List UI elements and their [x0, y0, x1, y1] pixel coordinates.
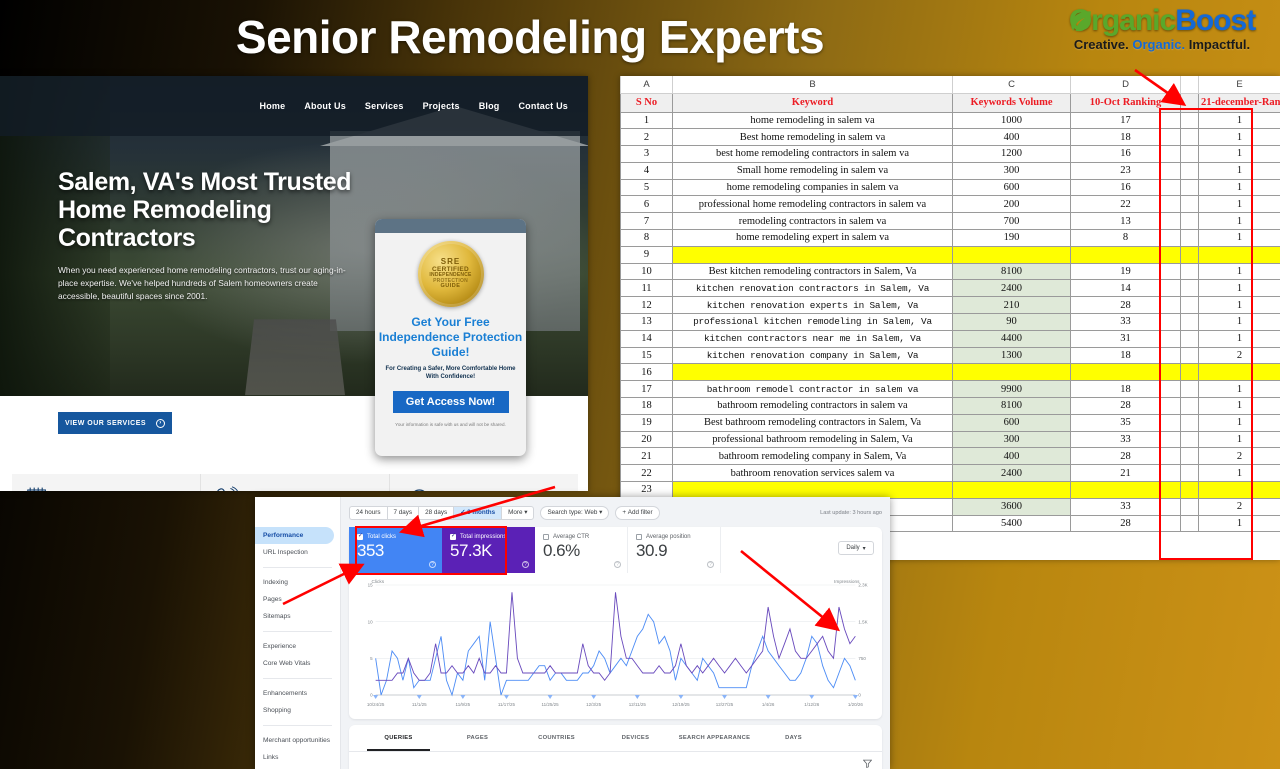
table-row[interactable]: 6professional home remodeling contractor… [621, 196, 1280, 213]
lead-card-disclaimer: Your information is safe with us and wil… [375, 421, 526, 428]
cell-volume[interactable]: 600 [953, 414, 1071, 431]
performance-chart: 005750101.5K152.3KClicksImpressions10/24… [349, 575, 882, 715]
website-navbar: Home About Us Services Projects Blog Con… [0, 76, 588, 136]
cell-volume[interactable]: 2400 [953, 280, 1071, 297]
cell-oct-ranking[interactable]: 35 [1071, 414, 1181, 431]
checkbox-icon[interactable] [636, 534, 642, 540]
filter-icon[interactable] [863, 759, 872, 768]
cell-keyword[interactable]: kitchen renovation experts in Salem, Va [673, 297, 953, 314]
lead-card-heading: Get Your Free Independence Protection Gu… [375, 315, 526, 360]
website-hero: Home About Us Services Projects Blog Con… [0, 76, 588, 396]
cell-s-no[interactable]: 14 [621, 330, 673, 347]
search-console-panel[interactable]: PerformanceURL InspectionIndexingPagesSi… [255, 497, 890, 769]
cell-keyword[interactable]: home remodeling companies in salem va [673, 179, 953, 196]
svg-text:12/27/25: 12/27/25 [716, 702, 734, 707]
cell-december-rank[interactable]: 1 [1199, 381, 1280, 398]
cell-s-no[interactable]: 13 [621, 314, 673, 331]
cell-december-rank[interactable]: 1 [1199, 330, 1280, 347]
metric-total-impressions[interactable]: Total impressions 57.3K ? [442, 527, 535, 573]
cell-keyword[interactable]: bathroom renovation services salem va [673, 465, 953, 482]
cell-december-rank[interactable]: 1 [1199, 414, 1280, 431]
nav-link-contact-us[interactable]: Contact Us [518, 101, 568, 111]
tab-days[interactable]: DAYS [754, 725, 833, 751]
cell-c[interactable] [953, 364, 1071, 381]
view-our-services-button[interactable]: VIEW OUR SERVICES › [58, 412, 172, 434]
cell-volume[interactable]: 9900 [953, 381, 1071, 398]
metric-total-clicks[interactable]: Total clicks 353 ? [349, 527, 442, 573]
tagline-impactful: Impactful. [1189, 37, 1250, 52]
cell-s-no[interactable]: 10 [621, 263, 673, 280]
metric-value: 57.3K [450, 541, 527, 561]
gsc-sidebar-item-performance[interactable]: Performance [255, 527, 334, 544]
cell-keyword[interactable]: best home remodeling contractors in sale… [673, 146, 953, 163]
cell-keyword[interactable]: home remodeling expert in salem va [673, 230, 953, 247]
table-row[interactable]: 18bathroom remodeling contractors in sal… [621, 398, 1280, 415]
cell-sp[interactable] [1181, 246, 1199, 263]
calendar-clock-icon [26, 486, 52, 491]
granularity-label: Daily [846, 545, 859, 551]
chart-series-group [376, 592, 856, 695]
table-row[interactable]: 16 [621, 364, 1280, 381]
cell-a[interactable]: 9 [621, 246, 673, 263]
chip-3-months-label: 3 months [467, 509, 495, 516]
cell-d[interactable] [1071, 246, 1181, 263]
cell-oct-ranking[interactable]: 16 [1071, 179, 1181, 196]
table-row[interactable]: 9 [621, 246, 1280, 263]
cell-spacer[interactable] [1181, 280, 1199, 297]
cell-spacer[interactable] [1181, 515, 1199, 532]
lead-capture-card: SRE CERTIFIED INDEPENDENCE PROTECTION GU… [375, 219, 526, 456]
cell-spacer[interactable] [1181, 146, 1199, 163]
cell-volume[interactable]: 300 [953, 162, 1071, 179]
cell-oct-ranking[interactable]: 33 [1071, 431, 1181, 448]
svg-text:750: 750 [858, 656, 866, 661]
cell-spacer[interactable] [1181, 297, 1199, 314]
checkbox-icon[interactable] [543, 534, 549, 540]
view-our-services-label: VIEW OUR SERVICES [65, 420, 146, 427]
col-letter-e[interactable]: E [1199, 76, 1280, 93]
lead-card-topbar [375, 219, 526, 233]
gsc-sidebar-item-pages[interactable]: Pages [255, 591, 340, 608]
gsc-filter-bar: 24 hours 7 days 28 days ✓ 3 months More … [349, 505, 882, 520]
col-letter-a[interactable]: A [621, 76, 673, 93]
table-row[interactable]: 5home remodeling companies in salem va60… [621, 179, 1280, 196]
gsc-main-area: 24 hours 7 days 28 days ✓ 3 months More … [341, 497, 890, 769]
cell-s-no[interactable]: 20 [621, 431, 673, 448]
cell-volume[interactable]: 1300 [953, 347, 1071, 364]
svg-text:10/24/25: 10/24/25 [367, 702, 385, 707]
cell-december-rank[interactable]: 1 [1199, 263, 1280, 280]
cell-volume[interactable]: 4400 [953, 330, 1071, 347]
cell-d[interactable] [1071, 364, 1181, 381]
cell-december-rank[interactable]: 1 [1199, 431, 1280, 448]
table-row[interactable]: 2Best home remodeling in salem va400181 [621, 129, 1280, 146]
cell-december-rank[interactable]: 2 [1199, 448, 1280, 465]
cell-spacer[interactable] [1181, 196, 1199, 213]
cell-oct-ranking[interactable]: 22 [1071, 196, 1181, 213]
tab-devices[interactable]: DEVICES [596, 725, 675, 751]
header-spacer [1181, 93, 1199, 112]
cell-c[interactable] [953, 246, 1071, 263]
granularity-select[interactable]: Daily ▾ [838, 541, 874, 555]
cell-spacer[interactable] [1181, 263, 1199, 280]
cell-s-no[interactable]: 12 [621, 297, 673, 314]
metric-value: 353 [357, 541, 434, 561]
cell-december-rank[interactable]: 2 [1199, 347, 1280, 364]
cell-keyword[interactable]: bathroom remodeling company in Salem, Va [673, 448, 953, 465]
cell-volume[interactable]: 90 [953, 314, 1071, 331]
hero-heading: Salem, VA's Most Trusted Home Remodeling… [58, 168, 358, 252]
cell-s-no[interactable]: 6 [621, 196, 673, 213]
cell-oct-ranking[interactable]: 23 [1071, 162, 1181, 179]
cell-s-no[interactable]: 5 [621, 179, 673, 196]
cell-s-no[interactable]: 18 [621, 398, 673, 415]
cell-spacer[interactable] [1181, 213, 1199, 230]
tagline-creative: Creative. [1074, 37, 1129, 52]
svg-text:0: 0 [370, 693, 373, 698]
gsc-sidebar-item-enhancements[interactable]: Enhancements [255, 685, 340, 702]
cell-keyword[interactable]: bathroom remodeling contractors in salem… [673, 398, 953, 415]
tab-countries[interactable]: COUNTRIES [517, 725, 596, 751]
cell-oct-ranking[interactable]: 18 [1071, 129, 1181, 146]
sidebar-divider [263, 631, 332, 632]
tab-pages[interactable]: PAGES [438, 725, 517, 751]
cell-spacer[interactable] [1181, 498, 1199, 515]
gsc-sidebar-item-core-web-vitals[interactable]: Core Web Vitals [255, 655, 340, 672]
table-row[interactable]: 17bathroom remodel contractor in salem v… [621, 381, 1280, 398]
search-type-chip[interactable]: Search type: Web ▾ [540, 506, 609, 520]
checkbox-icon[interactable] [450, 534, 456, 540]
cell-keyword[interactable]: Best home remodeling in salem va [673, 129, 953, 146]
keyword-ranking-spreadsheet[interactable]: A B C D E S No Keyword Keywords Volume 1… [620, 76, 1280, 560]
cell-b[interactable] [673, 482, 953, 499]
table-row[interactable]: 12kitchen renovation experts in Salem, V… [621, 297, 1280, 314]
cell-volume[interactable]: 400 [953, 129, 1071, 146]
cell-volume[interactable]: 1000 [953, 112, 1071, 129]
cell-s-no[interactable]: 11 [621, 280, 673, 297]
help-icon[interactable]: ? [614, 561, 621, 568]
checkbox-icon[interactable] [357, 534, 363, 540]
sidebar-divider [263, 567, 332, 568]
svg-text:1/20/26: 1/20/26 [848, 702, 864, 707]
cell-december-rank[interactable]: 1 [1199, 129, 1280, 146]
nav-link-services[interactable]: Services [365, 101, 404, 111]
brand-logo-boost: Boost [1175, 4, 1255, 37]
cell-d[interactable] [1071, 482, 1181, 499]
cell-oct-ranking[interactable]: 16 [1071, 146, 1181, 163]
gsc-sidebar-item-experience[interactable]: Experience [255, 638, 340, 655]
cell-volume[interactable]: 210 [953, 297, 1071, 314]
nav-link-projects[interactable]: Projects [423, 101, 460, 111]
tab-search-appearance[interactable]: SEARCH APPEARANCE [675, 725, 754, 751]
cell-volume[interactable]: 600 [953, 179, 1071, 196]
cell-volume[interactable]: 8100 [953, 263, 1071, 280]
table-row[interactable]: 15kitchen renovation company in Salem, V… [621, 347, 1280, 364]
cell-keyword[interactable]: bathroom remodel contractor in salem va [673, 381, 953, 398]
help-icon[interactable]: ? [707, 561, 714, 568]
table-header-row: S No Keyword Keywords Volume 10-Oct Rank… [621, 93, 1280, 112]
cell-e[interactable] [1199, 482, 1280, 499]
metric-value: 0.6% [543, 541, 619, 561]
tab-queries[interactable]: QUERIES [359, 725, 438, 751]
cell-spacer[interactable] [1181, 179, 1199, 196]
cell-s-no[interactable]: 19 [621, 414, 673, 431]
cell-december-rank[interactable]: 1 [1199, 162, 1280, 179]
seal-line-5: GUIDE [441, 284, 461, 290]
table-row[interactable]: 3best home remodeling contractors in sal… [621, 146, 1280, 163]
svg-text:Impressions: Impressions [834, 579, 860, 584]
cell-december-rank[interactable]: 1 [1199, 230, 1280, 247]
cell-spacer[interactable] [1181, 414, 1199, 431]
cell-keyword[interactable]: professional bathroom remodeling in Sale… [673, 431, 953, 448]
metric-label: Total impressions [460, 534, 506, 540]
cell-spacer[interactable] [1181, 330, 1199, 347]
certification-seal-icon: SRE CERTIFIED INDEPENDENCE PROTECTION GU… [418, 241, 484, 307]
gsc-sidebar-item-shopping[interactable]: Shopping [255, 702, 340, 719]
gsc-metrics-card: Total clicks 353 ? Total impressions 57.… [349, 527, 882, 719]
cell-oct-ranking[interactable]: 8 [1071, 230, 1181, 247]
cell-oct-ranking[interactable]: 18 [1071, 381, 1181, 398]
table-row[interactable]: 4Small home remodeling in salem va300231 [621, 162, 1280, 179]
cell-december-rank[interactable]: 1 [1199, 314, 1280, 331]
cell-oct-ranking[interactable]: 33 [1071, 314, 1181, 331]
cell-keyword[interactable]: home remodeling in salem va [673, 112, 953, 129]
cell-oct-ranking[interactable]: 33 [1071, 498, 1181, 515]
metric-label: Total clicks [367, 534, 396, 540]
cell-sp[interactable] [1181, 482, 1199, 499]
cell-volume[interactable]: 400 [953, 448, 1071, 465]
cell-volume[interactable]: 3600 [953, 498, 1071, 515]
cell-december-rank[interactable]: 1 [1199, 179, 1280, 196]
cell-volume[interactable]: 1200 [953, 146, 1071, 163]
info-card-call-us[interactable]: Call Us Today 540-384-2064 [201, 474, 390, 491]
cell-oct-ranking[interactable]: 17 [1071, 112, 1181, 129]
cell-b[interactable] [673, 364, 953, 381]
arrow-right-icon: › [156, 419, 165, 428]
cell-december-rank[interactable]: 1 [1199, 515, 1280, 532]
cell-s-no[interactable]: 2 [621, 129, 673, 146]
table-row[interactable]: 13professional kitchen remodeling in Sal… [621, 314, 1280, 331]
table-row[interactable]: 23 [621, 482, 1280, 499]
seal-line-4: PROTECTION [433, 279, 468, 284]
gsc-tabs-row: QUERIES PAGES COUNTRIES DEVICES SEARCH A… [349, 725, 882, 751]
last-update-text: Last update: 3 hours ago [820, 510, 882, 516]
col-letter-d[interactable]: D [1071, 76, 1181, 93]
svg-text:11/9/25: 11/9/25 [456, 702, 471, 707]
cell-keyword[interactable]: remodeling contractors in salem va [673, 213, 953, 230]
cell-a[interactable]: 23 [621, 482, 673, 499]
date-range-chipgroup: 24 hours 7 days 28 days ✓ 3 months More … [349, 506, 534, 520]
cell-s-no[interactable]: 8 [621, 230, 673, 247]
add-filter-chip[interactable]: + Add filter [615, 506, 659, 520]
gsc-sidebar-item-links[interactable]: Links [255, 749, 340, 766]
cell-december-rank[interactable]: 2 [1199, 498, 1280, 515]
chip-more-label: More [508, 509, 522, 516]
svg-text:1/12/26: 1/12/26 [804, 702, 820, 707]
cell-spacer[interactable] [1181, 314, 1199, 331]
info-card-consultation[interactable]: Book a Your Consultation Let's discuss y… [12, 474, 201, 491]
metric-label: Average CTR [553, 534, 589, 540]
cell-oct-ranking[interactable]: 28 [1071, 448, 1181, 465]
cell-keyword[interactable]: professional home remodeling contractors… [673, 196, 953, 213]
gsc-tabs-card: QUERIES PAGES COUNTRIES DEVICES SEARCH A… [349, 725, 882, 769]
gsc-sidebar-item-indexing[interactable]: Indexing [255, 574, 340, 591]
info-cards-strip: Book a Your Consultation Let's discuss y… [12, 474, 578, 491]
cell-s-no[interactable]: 15 [621, 347, 673, 364]
cell-keyword[interactable]: Best kitchen remodeling contractors in S… [673, 263, 953, 280]
cell-december-rank[interactable]: 1 [1199, 280, 1280, 297]
cell-volume[interactable]: 2400 [953, 465, 1071, 482]
cell-spacer[interactable] [1181, 431, 1199, 448]
info-card-open-hours[interactable]: Open hours Mon-Fri: 8am-4pm [390, 474, 578, 491]
cell-december-rank[interactable]: 1 [1199, 213, 1280, 230]
cell-spacer[interactable] [1181, 448, 1199, 465]
cell-december-rank[interactable]: 1 [1199, 465, 1280, 482]
cell-volume[interactable]: 5400 [953, 515, 1071, 532]
cell-keyword[interactable]: kitchen renovation company in Salem, Va [673, 347, 953, 364]
cell-volume[interactable]: 8100 [953, 398, 1071, 415]
table-row[interactable]: 7remodeling contractors in salem va70013… [621, 213, 1280, 230]
chip-24-hours[interactable]: 24 hours [349, 506, 387, 520]
clock-icon [404, 486, 430, 491]
help-icon[interactable]: ? [522, 561, 529, 568]
cell-a[interactable]: 16 [621, 364, 673, 381]
table-row[interactable]: 11kitchen renovation contractors in Sale… [621, 280, 1280, 297]
col-letter-c[interactable]: C [953, 76, 1071, 93]
cell-spacer[interactable] [1181, 112, 1199, 129]
nav-link-about-us[interactable]: About Us [304, 101, 346, 111]
cell-s-no[interactable]: 21 [621, 448, 673, 465]
metric-value: 30.9 [636, 541, 712, 561]
cell-volume[interactable]: 200 [953, 196, 1071, 213]
cell-keyword[interactable]: professional kitchen remodeling in Salem… [673, 314, 953, 331]
cell-spacer[interactable] [1181, 398, 1199, 415]
cell-spacer[interactable] [1181, 230, 1199, 247]
table-body: 1home remodeling in salem va10001712Best… [621, 112, 1280, 532]
cell-oct-ranking[interactable]: 18 [1071, 347, 1181, 364]
cell-volume[interactable]: 700 [953, 213, 1071, 230]
cell-spacer[interactable] [1181, 162, 1199, 179]
chip-7-days[interactable]: 7 days [387, 506, 419, 520]
cell-oct-ranking[interactable]: 19 [1071, 263, 1181, 280]
cell-oct-ranking[interactable]: 21 [1071, 465, 1181, 482]
nav-link-blog[interactable]: Blog [479, 101, 500, 111]
check-icon: ✓ [460, 509, 467, 516]
cell-december-rank[interactable]: 1 [1199, 112, 1280, 129]
cell-s-no[interactable]: 7 [621, 213, 673, 230]
help-icon[interactable]: ? [429, 561, 436, 568]
svg-text:2.3K: 2.3K [858, 583, 867, 588]
cell-volume[interactable]: 300 [953, 431, 1071, 448]
page-title: Senior Remodeling Experts [0, 4, 1060, 70]
gsc-sidebar-item-merchant-opportunities[interactable]: Merchant opportunities [255, 732, 340, 749]
gsc-sidebar-item-url-inspection[interactable]: URL Inspection [255, 544, 340, 561]
gsc-sidebar: PerformanceURL InspectionIndexingPagesSi… [255, 497, 341, 769]
header-december-rank: 21-december-Rank [1199, 93, 1280, 112]
svg-text:0: 0 [858, 693, 861, 698]
svg-text:11/25/25: 11/25/25 [542, 702, 560, 707]
table-row[interactable]: 19Best bathroom remodeling contractors i… [621, 414, 1280, 431]
cell-december-rank[interactable]: 1 [1199, 297, 1280, 314]
cell-keyword[interactable]: kitchen renovation contractors in Salem,… [673, 280, 953, 297]
nav-link-home[interactable]: Home [260, 101, 286, 111]
cell-keyword[interactable]: Small home remodeling in salem va [673, 162, 953, 179]
chip-more[interactable]: More ▾ [501, 506, 534, 520]
cell-december-rank[interactable]: 1 [1199, 196, 1280, 213]
chip-3-months[interactable]: ✓ 3 months [453, 506, 501, 520]
header-oct-ranking: 10-Oct Ranking [1071, 93, 1181, 112]
cell-sp[interactable] [1181, 364, 1199, 381]
table-row[interactable]: 21bathroom remodeling company in Salem, … [621, 448, 1280, 465]
hero-copy: Salem, VA's Most Trusted Home Remodeling… [58, 168, 358, 303]
cell-oct-ranking[interactable]: 28 [1071, 297, 1181, 314]
table-row[interactable]: 10Best kitchen remodeling contractors in… [621, 263, 1280, 280]
gsc-metrics-row: Total clicks 353 ? Total impressions 57.… [349, 527, 882, 573]
cell-spacer[interactable] [1181, 347, 1199, 364]
lead-card-subheading: For Creating a Safer, More Comfortable H… [375, 365, 526, 382]
metric-average-position[interactable]: Average position 30.9 ? [628, 527, 721, 573]
chevron-down-icon: ▾ [597, 509, 602, 516]
cell-c[interactable] [953, 482, 1071, 499]
cell-oct-ranking[interactable]: 13 [1071, 213, 1181, 230]
chevron-down-icon: ▾ [863, 545, 866, 552]
cell-s-no[interactable]: 3 [621, 146, 673, 163]
table-row[interactable]: 14kitchen contractors near me in Salem, … [621, 330, 1280, 347]
cell-december-rank[interactable]: 1 [1199, 398, 1280, 415]
table-row[interactable]: 8home remodeling expert in salem va19081 [621, 230, 1280, 247]
cell-s-no[interactable]: 17 [621, 381, 673, 398]
svg-text:5: 5 [370, 656, 373, 661]
svg-text:1.5K: 1.5K [858, 619, 867, 624]
col-letter-spacer [1181, 76, 1199, 93]
cell-e[interactable] [1199, 364, 1280, 381]
cell-s-no[interactable]: 22 [621, 465, 673, 482]
tagline-organic: Organic. [1132, 37, 1185, 52]
header-s-no: S No [621, 93, 673, 112]
sidebar-divider [263, 725, 332, 726]
svg-text:12/3/25: 12/3/25 [586, 702, 602, 707]
cell-b[interactable] [673, 246, 953, 263]
cell-oct-ranking[interactable]: 14 [1071, 280, 1181, 297]
cell-keyword[interactable]: Best bathroom remodeling contractors in … [673, 414, 953, 431]
chip-28-days[interactable]: 28 days [418, 506, 453, 520]
cell-keyword[interactable]: kitchen contractors near me in Salem, Va [673, 330, 953, 347]
cell-volume[interactable]: 190 [953, 230, 1071, 247]
cell-oct-ranking[interactable]: 31 [1071, 330, 1181, 347]
get-access-now-button[interactable]: Get Access Now! [393, 391, 509, 413]
cell-e[interactable] [1199, 246, 1280, 263]
metric-average-ctr[interactable]: Average CTR 0.6% ? [535, 527, 628, 573]
cell-december-rank[interactable]: 1 [1199, 146, 1280, 163]
cell-s-no[interactable]: 1 [621, 112, 673, 129]
gsc-sidebar-item-sitemaps[interactable]: Sitemaps [255, 608, 340, 625]
cell-spacer[interactable] [1181, 381, 1199, 398]
cell-oct-ranking[interactable]: 28 [1071, 515, 1181, 532]
svg-text:11/1/25: 11/1/25 [412, 702, 427, 707]
table-row[interactable]: 22bathroom renovation services salem va2… [621, 465, 1280, 482]
cell-s-no[interactable]: 4 [621, 162, 673, 179]
cell-spacer[interactable] [1181, 129, 1199, 146]
col-letter-b[interactable]: B [673, 76, 953, 93]
table-row[interactable]: 1home remodeling in salem va1000171 [621, 112, 1280, 129]
svg-text:12/19/25: 12/19/25 [672, 702, 690, 707]
brand-tagline: Creative. Organic. Impactful. [1062, 38, 1262, 51]
svg-text:11/17/25: 11/17/25 [498, 702, 516, 707]
table-row[interactable]: 20professional bathroom remodeling in Sa… [621, 431, 1280, 448]
cell-oct-ranking[interactable]: 28 [1071, 398, 1181, 415]
cell-spacer[interactable] [1181, 465, 1199, 482]
svg-text:10: 10 [368, 619, 374, 624]
